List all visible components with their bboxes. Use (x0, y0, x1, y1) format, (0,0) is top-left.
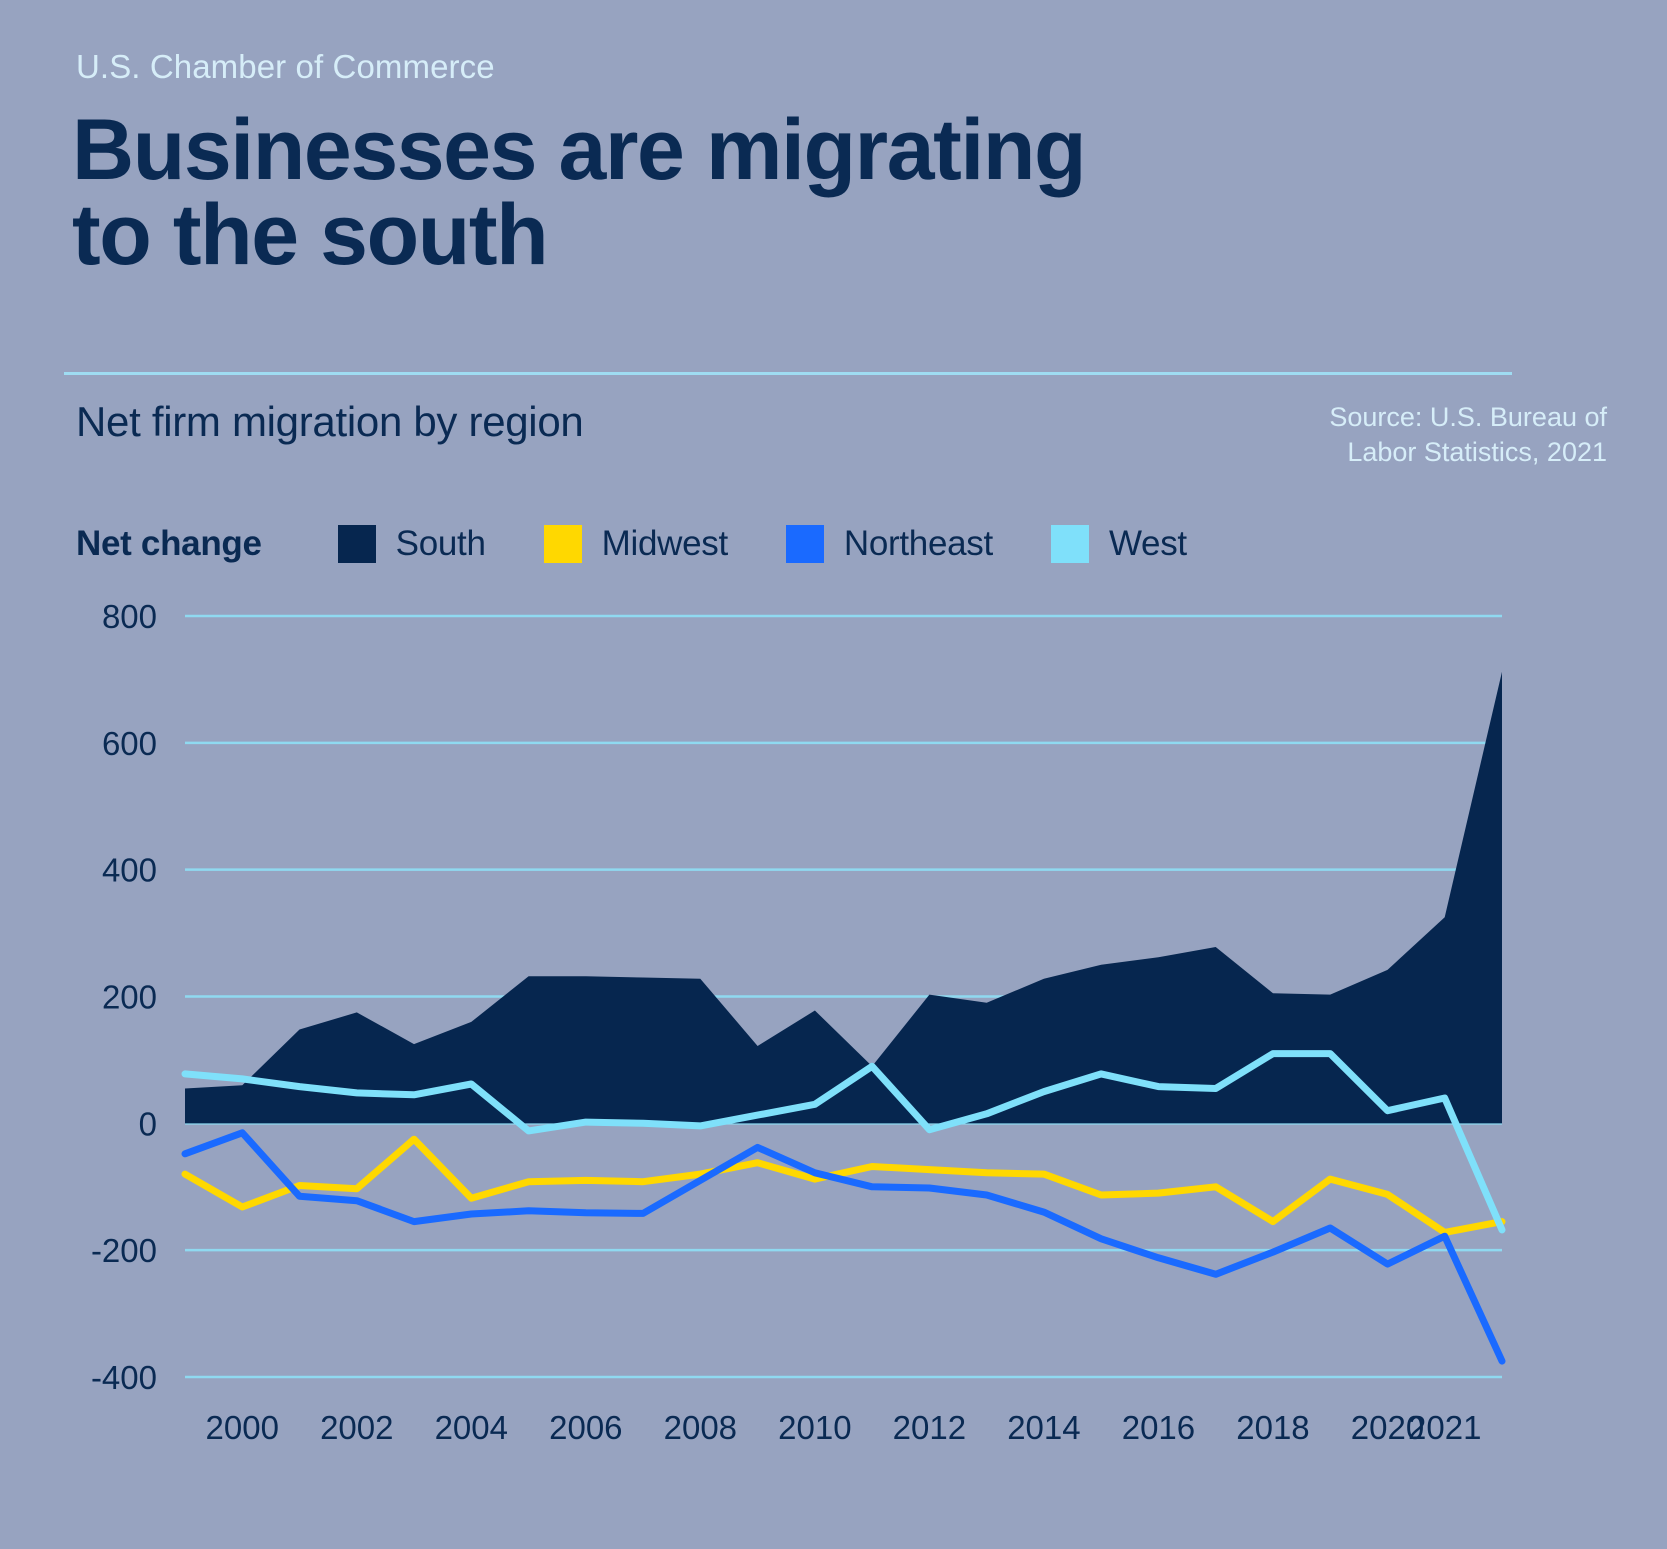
x-axis-tick-label: 2014 (1007, 1409, 1080, 1446)
x-axis-tick-label: 2008 (664, 1409, 737, 1446)
legend-title: Net change (76, 524, 262, 564)
source-line-1: Source: U.S. Bureau of (1329, 402, 1607, 432)
x-axis-tick-label: 2012 (893, 1409, 966, 1446)
legend-item-midwest[interactable]: Midwest (544, 524, 728, 564)
headline-line-1: Businesses are migrating (72, 102, 1085, 198)
x-axis-tick-label: 2018 (1236, 1409, 1309, 1446)
headline-line-2: to the south (72, 193, 1272, 278)
legend-label-northeast: Northeast (844, 524, 993, 564)
brand-eyebrow: U.S. Chamber of Commerce (76, 48, 495, 86)
y-axis-tick-label: 600 (102, 725, 157, 762)
legend-item-south[interactable]: South (338, 524, 486, 564)
page-title: Businesses are migrating to the south (72, 108, 1272, 278)
legend-swatch-midwest (544, 525, 582, 563)
y-axis-tick-label: 400 (102, 852, 157, 889)
x-axis-tick-label: 2000 (206, 1409, 279, 1446)
legend-label-midwest: Midwest (602, 524, 728, 564)
legend-swatch-south (338, 525, 376, 563)
net-firm-migration-chart: 8006004002000-200-400 200020022004200620… (0, 584, 1667, 1464)
legend-swatch-west (1051, 525, 1089, 563)
x-axis-tick-label: 2006 (549, 1409, 622, 1446)
chart-y-axis-labels: 8006004002000-200-400 (91, 598, 157, 1396)
x-axis-tick-label: 2016 (1122, 1409, 1195, 1446)
x-axis-tick-label: 2021 (1408, 1409, 1481, 1446)
chart-plot-area: 8006004002000-200-400 200020022004200620… (0, 584, 1667, 1464)
series-line-midwest (185, 1139, 1502, 1232)
y-axis-tick-label: -400 (91, 1359, 157, 1396)
chart-subtitle: Net firm migration by region (76, 398, 583, 446)
x-axis-tick-label: 2004 (435, 1409, 508, 1446)
legend-item-northeast[interactable]: Northeast (786, 524, 993, 564)
y-axis-tick-label: 0 (139, 1105, 157, 1142)
chart-legend: Net change South Midwest Northeast West (76, 518, 1245, 570)
x-axis-tick-label: 2010 (778, 1409, 851, 1446)
chart-x-axis-labels: 2000200220042006200820102012201420162018… (206, 1409, 1482, 1446)
divider-rule (64, 372, 1512, 375)
source-line-2: Labor Statistics, 2021 (1287, 435, 1607, 470)
legend-label-south: South (396, 524, 486, 564)
y-axis-tick-label: -200 (91, 1232, 157, 1269)
infographic-card: U.S. Chamber of Commerce Businesses are … (0, 0, 1667, 1549)
legend-label-west: West (1109, 524, 1187, 564)
source-note: Source: U.S. Bureau of Labor Statistics,… (1287, 400, 1607, 470)
x-axis-tick-label: 2002 (320, 1409, 393, 1446)
legend-swatch-northeast (786, 525, 824, 563)
y-axis-tick-label: 800 (102, 598, 157, 635)
y-axis-tick-label: 200 (102, 979, 157, 1016)
legend-item-west[interactable]: West (1051, 524, 1187, 564)
